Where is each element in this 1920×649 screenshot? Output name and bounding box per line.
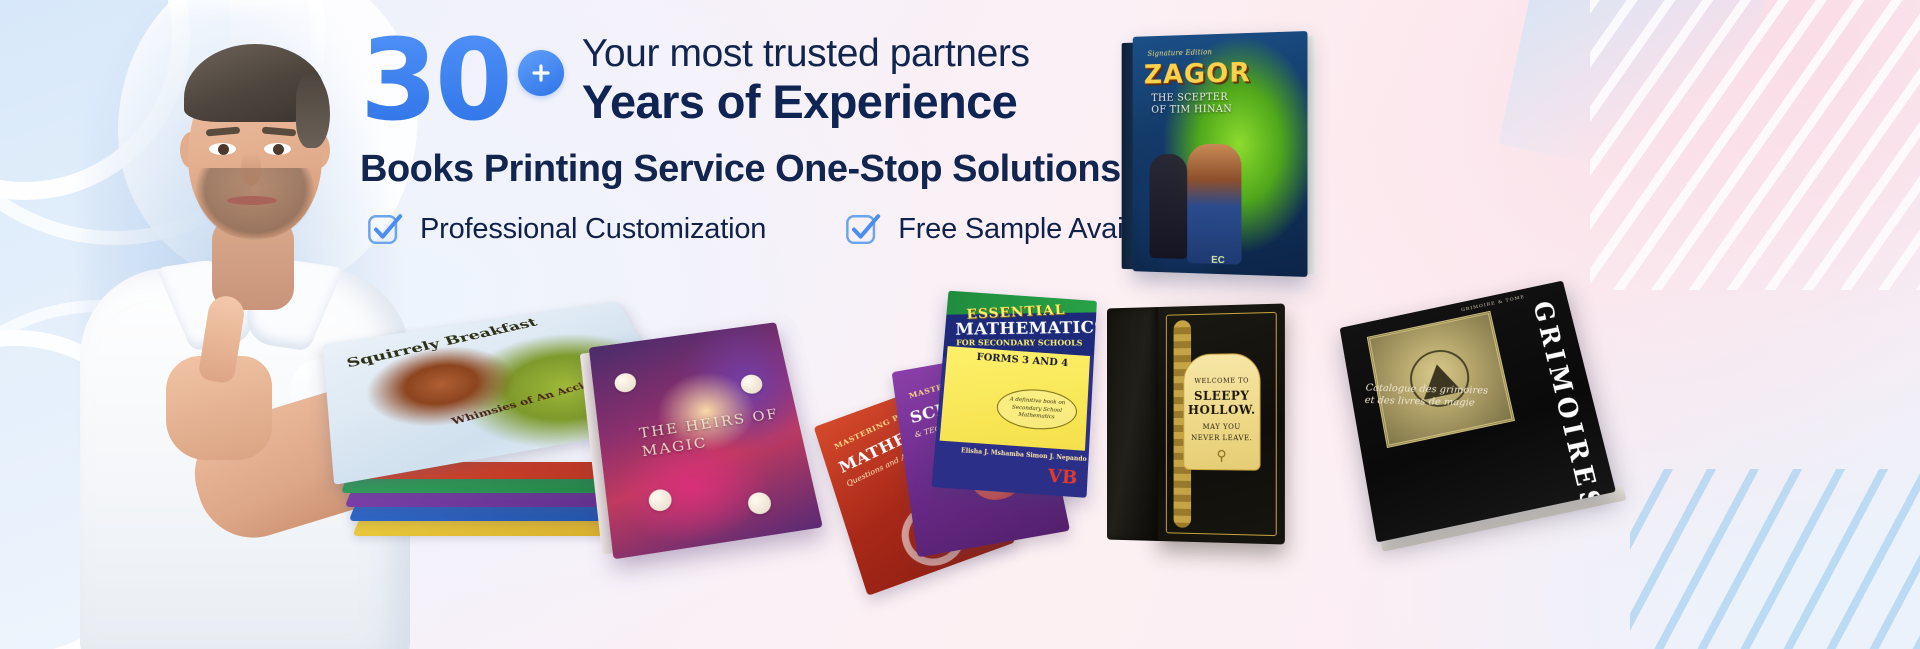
- plus-circle-icon: [518, 50, 564, 96]
- headline-text-group: Your most trusted partners Years of Expe…: [582, 28, 1030, 127]
- zagor-figure-main: [1187, 144, 1241, 265]
- decor-diagonal-stripes-top-right: [1590, 0, 1920, 290]
- book-title: GRIMOIRES: [1527, 299, 1608, 518]
- book-cover: THE HEIRS OF MAGIC: [589, 322, 823, 559]
- childrens-book-title: Squirrely Breakfast: [345, 316, 540, 371]
- check-square-icon: [366, 211, 404, 249]
- key-icon: ⚲: [1216, 447, 1226, 464]
- book-essential-mathematics: ESSENTIAL MATHEMATICS FOR SECONDARY SCHO…: [931, 291, 1096, 498]
- years-number: 30: [360, 28, 512, 136]
- book-cover: ESSENTIAL MATHEMATICS FOR SECONDARY SCHO…: [931, 291, 1096, 498]
- feature-label: Professional Customization: [420, 213, 766, 246]
- book-line-4: MAY YOU: [1184, 423, 1259, 431]
- headline-block: 30 Your most trusted partners Years of E…: [360, 28, 1100, 249]
- decor-rose: [739, 373, 764, 395]
- feature-item: Professional Customization: [366, 211, 766, 249]
- heading-text: Years of Experience: [582, 77, 1030, 128]
- zagor-publisher-mark: EC: [1211, 255, 1224, 266]
- zagor-figure-secondary: [1149, 154, 1187, 259]
- promo-banner: 30 Your most trusted partners Years of E…: [0, 0, 1920, 649]
- model-mouth: [227, 196, 277, 205]
- book-fantasy-novel: THE HEIRS OF MAGIC: [589, 322, 823, 559]
- decor-rose: [613, 372, 637, 394]
- fantasy-book-title: THE HEIRS OF MAGIC: [638, 402, 802, 461]
- book-sleepy-hollow: WELCOME TO SLEEPY HOLLOW. MAY YOU NEVER …: [1109, 303, 1285, 544]
- zagor-logo: ZAGOR: [1144, 57, 1251, 90]
- book-spine: [1107, 307, 1158, 541]
- headline-top-row: 30 Your most trusted partners Years of E…: [360, 28, 1100, 136]
- book-publisher-mark: VB: [1047, 465, 1078, 488]
- book-zagor: Signature Edition ZAGOR THE SCEPTER OF T…: [1133, 31, 1308, 277]
- book-line-3: HOLLOW.: [1184, 403, 1259, 417]
- tagline-text: Your most trusted partners: [582, 32, 1030, 76]
- decor-rose: [647, 488, 673, 513]
- book-cover: WELCOME TO SLEEPY HOLLOW. MAY YOU NEVER …: [1158, 303, 1285, 544]
- subheading-text: Books Printing Service One-Stop Solution…: [360, 148, 1100, 191]
- zagor-signature-line: Signature Edition: [1148, 48, 1213, 58]
- book-imprint: GRIMOIRE & TOME: [1461, 294, 1526, 313]
- zagor-subtitle: THE SCEPTER OF TIM HINAN: [1151, 92, 1237, 116]
- model-eye-left: [209, 143, 236, 155]
- book-line-2: MATHEMATICS: [955, 318, 1097, 339]
- book-line-1: WELCOME TO: [1184, 376, 1259, 385]
- book-line-2: SLEEPY: [1184, 388, 1259, 403]
- model-nose: [241, 152, 261, 186]
- book-cover: Signature Edition ZAGOR THE SCEPTER OF T…: [1133, 31, 1308, 277]
- check-square-icon: [844, 211, 882, 249]
- decor-diagonal-stripes-bottom-right: [1630, 469, 1920, 649]
- cover-emblem-plate: [1367, 311, 1515, 448]
- cover-center-panel: WELCOME TO SLEEPY HOLLOW. MAY YOU NEVER …: [1183, 353, 1260, 471]
- book-line-5: NEVER LEAVE.: [1184, 434, 1259, 442]
- book-line-3: FOR SECONDARY SCHOOLS: [956, 338, 1082, 348]
- feature-list: Professional Customization Free Sample A…: [360, 211, 1100, 249]
- book-subtitle: Catalogue des grimoires et des livres de…: [1364, 383, 1494, 410]
- decor-rose: [746, 491, 773, 516]
- model-eye-right: [264, 143, 291, 155]
